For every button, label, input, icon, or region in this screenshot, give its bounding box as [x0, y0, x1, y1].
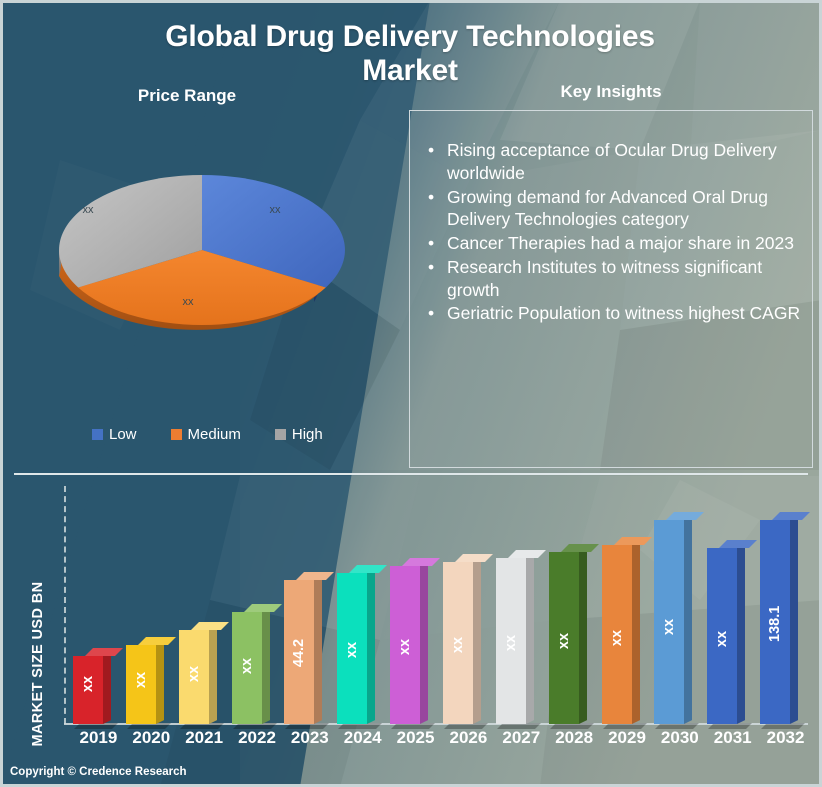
- key-insights-panel: •Rising acceptance of Ocular Drug Delive…: [409, 110, 813, 468]
- price-range-heading: Price Range: [137, 86, 237, 106]
- bar-value-label: xx: [606, 623, 628, 653]
- bar-2025[interactable]: xx: [390, 566, 428, 724]
- x-label-2024: 2024: [337, 728, 389, 748]
- bar-2026[interactable]: xx: [443, 562, 481, 724]
- bar-top-face: [296, 572, 334, 580]
- market-size-bar-chart: MARKET SIZE USD BN xxxxxxxx44.2xxxxxxxxx…: [0, 476, 822, 787]
- legend-swatch-low: [92, 429, 103, 440]
- infographic-root: Global Drug Delivery Technologies Market…: [0, 0, 822, 787]
- x-label-2028: 2028: [548, 728, 600, 748]
- key-insights-heading: Key Insights: [513, 82, 709, 102]
- bar-top-face: [191, 622, 229, 630]
- bar-side-face: [367, 569, 375, 724]
- bar-top-face: [508, 550, 546, 558]
- key-insight-text: Cancer Therapies had a major share in 20…: [447, 233, 794, 253]
- bar-value-label: xx: [658, 612, 680, 642]
- x-label-2022: 2022: [231, 728, 283, 748]
- bar-value-label: xx: [130, 665, 152, 695]
- bar-top-face: [561, 544, 599, 552]
- bullet-icon: •: [428, 139, 434, 162]
- bar-value-label: xx: [341, 635, 363, 665]
- key-insights-list: •Rising acceptance of Ocular Drug Delive…: [410, 111, 812, 325]
- price-range-pie-chart: xx xx xx: [30, 150, 375, 350]
- key-insight-text: Research Institutes to witness significa…: [447, 257, 762, 300]
- pie-label-medium: xx: [183, 296, 195, 308]
- bar-2027[interactable]: xx: [496, 558, 534, 724]
- bar-side-face: [579, 548, 587, 724]
- key-insight-text: Geriatric Population to witness highest …: [447, 303, 800, 323]
- copyright-text: Copyright © Credence Research: [10, 766, 187, 778]
- bar-side-face: [156, 641, 164, 724]
- bar-value-label: xx: [447, 630, 469, 660]
- bar-2030[interactable]: xx: [654, 520, 692, 724]
- bar-chart-y-axis: [64, 486, 66, 724]
- bar-side-face: [420, 562, 428, 724]
- bar-value-label: xx: [711, 624, 733, 654]
- key-insight-item: •Rising acceptance of Ocular Drug Delive…: [422, 139, 804, 185]
- pie-legend: Low Medium High: [92, 424, 352, 444]
- bar-side-face: [209, 626, 217, 724]
- bar-top-face: [772, 512, 810, 520]
- x-label-2032: 2032: [760, 728, 812, 748]
- legend-item-high: High: [275, 426, 323, 443]
- bar-2032[interactable]: 138.1: [760, 520, 798, 724]
- bar-2024[interactable]: xx: [337, 573, 375, 724]
- bar-side-face: [790, 516, 798, 724]
- x-label-2027: 2027: [495, 728, 547, 748]
- bar-value-label: xx: [394, 632, 416, 662]
- pie-label-high: xx: [83, 204, 95, 216]
- key-insight-item: •Cancer Therapies had a major share in 2…: [422, 232, 804, 255]
- bar-2022[interactable]: xx: [232, 612, 270, 724]
- bar-top-face: [455, 554, 493, 562]
- bar-side-face: [526, 554, 534, 724]
- key-insight-item: •Research Institutes to witness signific…: [422, 256, 804, 302]
- x-label-2025: 2025: [390, 728, 442, 748]
- legend-label-medium: Medium: [188, 426, 241, 443]
- x-label-2019: 2019: [72, 728, 124, 748]
- x-label-2031: 2031: [707, 728, 759, 748]
- bar-2031[interactable]: xx: [707, 548, 745, 724]
- bar-top-face: [138, 637, 176, 645]
- bar-side-face: [684, 516, 692, 724]
- bar-side-face: [103, 652, 111, 724]
- bullet-icon: •: [428, 256, 434, 279]
- key-insight-item: •Geriatric Population to witness highest…: [422, 302, 804, 325]
- bar-2023[interactable]: 44.2: [284, 580, 322, 724]
- legend-swatch-medium: [171, 429, 182, 440]
- bar-top-face: [666, 512, 704, 520]
- legend-label-high: High: [292, 426, 323, 443]
- bar-value-label: xx: [183, 659, 205, 689]
- bar-2019[interactable]: xx: [73, 656, 111, 724]
- bar-chart-bars: xxxxxxxx44.2xxxxxxxxxxxxxxxx138.1: [70, 476, 810, 724]
- bar-chart-x-axis-labels: 2019202020212022202320242025202620272028…: [70, 728, 810, 756]
- x-label-2029: 2029: [601, 728, 653, 748]
- bar-top-face: [85, 648, 123, 656]
- bar-top-face: [719, 540, 757, 548]
- bar-top-face: [402, 558, 440, 566]
- bar-value-label: xx: [553, 626, 575, 656]
- bar-side-face: [737, 544, 745, 724]
- x-label-2020: 2020: [125, 728, 177, 748]
- bar-side-face: [262, 608, 270, 724]
- key-insight-text: Growing demand for Advanced Oral Drug De…: [447, 187, 768, 230]
- bar-2029[interactable]: xx: [602, 545, 640, 724]
- legend-item-low: Low: [92, 426, 137, 443]
- bullet-icon: •: [428, 302, 434, 325]
- page-title: Global Drug Delivery Technologies Market: [120, 20, 700, 87]
- bar-top-face: [614, 537, 652, 545]
- bar-side-face: [314, 576, 322, 724]
- bar-2021[interactable]: xx: [179, 630, 217, 724]
- bar-top-face: [349, 565, 387, 573]
- bar-value-label: xx: [236, 651, 258, 681]
- legend-item-medium: Medium: [171, 426, 241, 443]
- bar-chart-y-axis-label: MARKET SIZE USD BN: [30, 559, 46, 769]
- pie-label-low: xx: [270, 204, 282, 216]
- bar-2020[interactable]: xx: [126, 645, 164, 724]
- bullet-icon: •: [428, 186, 434, 209]
- bar-value-label: xx: [500, 628, 522, 658]
- x-label-2023: 2023: [284, 728, 336, 748]
- key-insight-item: •Growing demand for Advanced Oral Drug D…: [422, 186, 804, 232]
- bar-side-face: [632, 541, 640, 724]
- key-insight-text: Rising acceptance of Ocular Drug Deliver…: [447, 140, 777, 183]
- legend-label-low: Low: [109, 426, 137, 443]
- bar-side-face: [473, 558, 481, 724]
- x-label-2026: 2026: [442, 728, 494, 748]
- bar-top-face: [244, 604, 282, 612]
- x-label-2021: 2021: [178, 728, 230, 748]
- legend-swatch-high: [275, 429, 286, 440]
- bar-value-label: 138.1: [764, 612, 786, 642]
- bar-value-label: 44.2: [288, 638, 310, 668]
- x-label-2030: 2030: [654, 728, 706, 748]
- bar-2028[interactable]: xx: [549, 552, 587, 724]
- bar-value-label: xx: [77, 669, 99, 699]
- section-divider: [14, 473, 808, 475]
- bullet-icon: •: [428, 232, 434, 255]
